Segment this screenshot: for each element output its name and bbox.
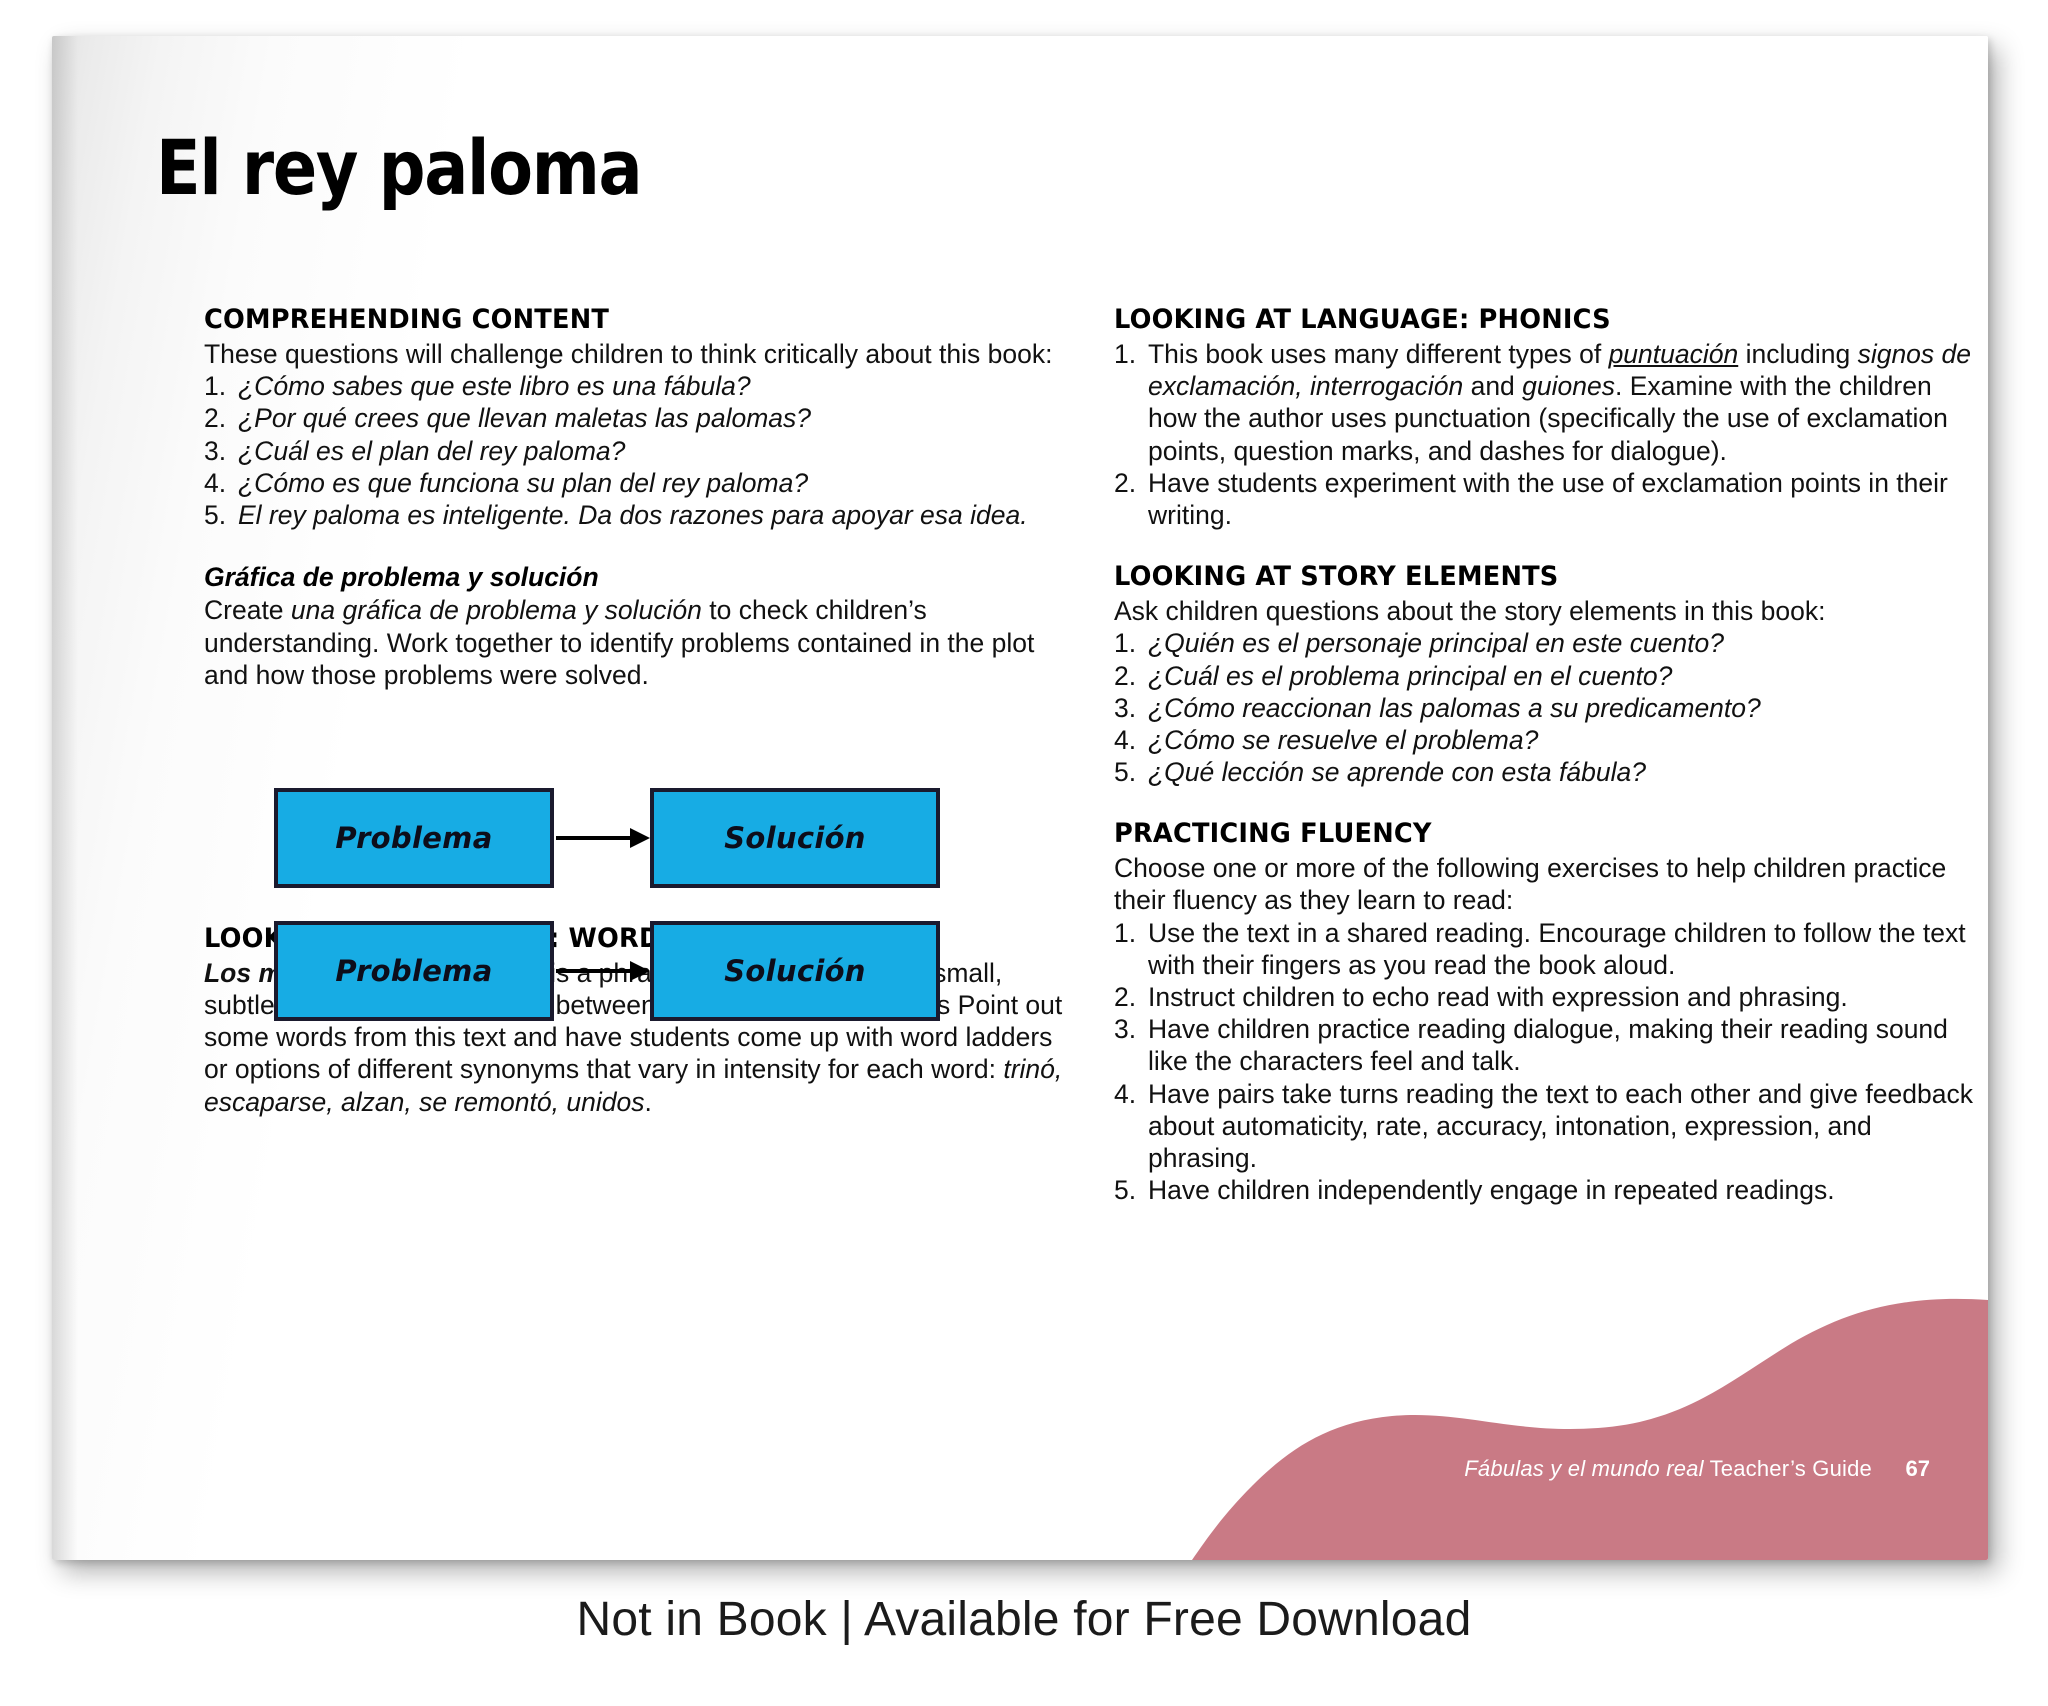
list-marker: 1. — [1114, 338, 1136, 370]
footer-guide-label: Teacher’s Guide — [1704, 1456, 1872, 1481]
list-item: 4. Have pairs take turns reading the tex… — [1114, 1078, 1974, 1175]
fluency-intro: Choose one or more of the following exer… — [1114, 852, 1974, 916]
fluency-list: 1. Use the text in a shared reading. Enc… — [1114, 917, 1974, 1207]
phonics-item1-part3: and — [1463, 371, 1522, 401]
diagram-row: Problema Solución — [274, 788, 954, 888]
list-item: 1. Use the text in a shared reading. Enc… — [1114, 917, 1974, 981]
phonics-item1-underline: puntuación — [1609, 339, 1739, 369]
footer-book-credit: Fábulas y el mundo real Teacher’s Guide — [1464, 1456, 1872, 1482]
arrow-shaft — [556, 836, 632, 840]
word-skills-body-end: . — [644, 1087, 651, 1117]
footer-page-number: 67 — [1906, 1456, 1930, 1482]
list-text: ¿Qué lección se aprende con esta fábula? — [1148, 757, 1646, 787]
list-text: ¿Cuál es el plan del rey paloma? — [238, 436, 625, 466]
list-marker: 4. — [1114, 1078, 1136, 1110]
list-text: Have children practice reading dialogue,… — [1148, 1014, 1948, 1076]
list-item: 5. ¿Qué lección se aprende con esta fábu… — [1114, 756, 1974, 788]
problem-solution-diagram: Problema Solución Problema — [274, 788, 954, 1038]
list-text: Use the text in a shared reading. Encour… — [1148, 918, 1966, 980]
diagram-solution-label: Solución — [724, 821, 866, 855]
list-item: 4. ¿Cómo se resuelve el problema? — [1114, 724, 1974, 756]
list-marker: 5. — [1114, 1174, 1136, 1206]
diagram-problem-box: Problema — [274, 921, 554, 1021]
list-text: Instruct children to echo read with expr… — [1148, 982, 1848, 1012]
screenshot-stage: El rey paloma COMPREHENDING CONTENT Thes… — [0, 0, 2048, 1706]
list-text: ¿Quién es el personaje principal en este… — [1148, 628, 1724, 658]
document-page: El rey paloma COMPREHENDING CONTENT Thes… — [52, 36, 1988, 1560]
section-heading-practicing-fluency: PRACTICING FLUENCY — [1114, 818, 1931, 849]
comprehending-intro: These questions will challenge children … — [204, 338, 1064, 370]
list-marker: 4. — [204, 467, 226, 499]
comprehending-question-list: 1. ¿Cómo sabes que este libro es una fáb… — [204, 370, 1064, 531]
list-marker: 2. — [1114, 981, 1136, 1013]
arrow-right-icon — [556, 832, 650, 844]
list-item: 5. Have children independently engage in… — [1114, 1174, 1974, 1206]
arrow-shaft — [556, 969, 632, 973]
footer-wave-decoration — [1042, 1290, 1988, 1560]
section-heading-phonics: LOOKING AT LANGUAGE: PHONICS — [1114, 304, 1931, 335]
list-item: 3. ¿Cuál es el plan del rey paloma? — [204, 435, 1064, 467]
arrow-head — [630, 828, 650, 848]
list-text: ¿Cómo se resuelve el problema? — [1148, 725, 1538, 755]
list-marker: 5. — [204, 499, 226, 531]
list-text: Have students experiment with the use of… — [1148, 468, 1948, 530]
section-heading-story-elements: LOOKING AT STORY ELEMENTS — [1114, 561, 1931, 592]
spacer — [1114, 788, 1974, 818]
list-marker: 5. — [1114, 756, 1136, 788]
list-item: 2. Instruct children to echo read with e… — [1114, 981, 1974, 1013]
list-marker: 3. — [1114, 692, 1136, 724]
section-heading-comprehending-content: COMPREHENDING CONTENT — [204, 304, 1021, 335]
list-item: 2. ¿Cuál es el problema principal en el … — [1114, 660, 1974, 692]
spacer — [204, 531, 1064, 561]
phonics-item1-part2: including — [1738, 339, 1857, 369]
story-elements-question-list: 1. ¿Quién es el personaje principal en e… — [1114, 627, 1974, 788]
list-item: 1. This book uses many different types o… — [1114, 338, 1974, 467]
list-marker: 2. — [204, 402, 226, 434]
list-marker: 2. — [1114, 660, 1136, 692]
grafica-body-italic: una gráfica de problema y solución — [291, 595, 702, 625]
phonics-item1-part1: This book uses many different types of — [1148, 339, 1609, 369]
phonics-item1-italic3: guiones — [1522, 371, 1615, 401]
list-text: ¿Cuál es el problema principal en el cue… — [1148, 661, 1672, 691]
list-item: 2. ¿Por qué crees que llevan maletas las… — [204, 402, 1064, 434]
list-marker: 3. — [1114, 1013, 1136, 1045]
story-elements-intro: Ask children questions about the story e… — [1114, 595, 1974, 627]
list-text: Have children independently engage in re… — [1148, 1175, 1835, 1205]
list-item: 1. ¿Quién es el personaje principal en e… — [1114, 627, 1974, 659]
image-caption: Not in Book | Available for Free Downloa… — [0, 1592, 2048, 1647]
list-marker: 1. — [1114, 627, 1136, 659]
arrow-head — [630, 961, 650, 981]
list-text: ¿Por qué crees que llevan maletas las pa… — [238, 403, 811, 433]
diagram-solution-label: Solución — [724, 954, 866, 988]
diagram-row: Problema Solución — [274, 921, 954, 1021]
footer-book-title: Fábulas y el mundo real — [1464, 1456, 1703, 1481]
list-marker: 1. — [1114, 917, 1136, 949]
diagram-problem-label: Problema — [335, 954, 492, 988]
list-text: El rey paloma es inteligente. Da dos raz… — [238, 500, 1028, 530]
list-marker: 3. — [204, 435, 226, 467]
diagram-solution-box: Solución — [650, 921, 940, 1021]
list-item: 3. Have children practice reading dialog… — [1114, 1013, 1974, 1077]
subheading-grafica-problema-solucion: Gráfica de problema y solución — [204, 561, 1064, 593]
diagram-solution-box: Solución — [650, 788, 940, 888]
list-item: 4. ¿Cómo es que funciona su plan del rey… — [204, 467, 1064, 499]
list-text: ¿Cómo es que funciona su plan del rey pa… — [238, 468, 808, 498]
list-text: This book uses many different types of p… — [1148, 339, 1971, 466]
list-marker: 2. — [1114, 467, 1136, 499]
footer-wave-shape — [1042, 1290, 1988, 1560]
diagram-problem-label: Problema — [335, 821, 492, 855]
list-item: 2. Have students experiment with the use… — [1114, 467, 1974, 531]
grafica-body-before: Create — [204, 595, 291, 625]
list-item: 3. ¿Cómo reaccionan las palomas a su pre… — [1114, 692, 1974, 724]
list-item: 5. El rey paloma es inteligente. Da dos … — [204, 499, 1064, 531]
spacer — [1114, 531, 1974, 561]
list-item: 1. ¿Cómo sabes que este libro es una fáb… — [204, 370, 1064, 402]
list-marker: 1. — [204, 370, 226, 402]
page-title: El rey paloma — [156, 130, 641, 206]
arrow-right-icon — [556, 965, 650, 977]
list-text: ¿Cómo reaccionan las palomas a su predic… — [1148, 693, 1761, 723]
right-column: LOOKING AT LANGUAGE: PHONICS 1. This boo… — [1114, 304, 1974, 1206]
list-marker: 4. — [1114, 724, 1136, 756]
phonics-list: 1. This book uses many different types o… — [1114, 338, 1974, 531]
diagram-problem-box: Problema — [274, 788, 554, 888]
list-text: Have pairs take turns reading the text t… — [1148, 1079, 1973, 1173]
list-text: ¿Cómo sabes que este libro es una fábula… — [238, 371, 751, 401]
grafica-body: Create una gráfica de problema y solució… — [204, 594, 1064, 691]
